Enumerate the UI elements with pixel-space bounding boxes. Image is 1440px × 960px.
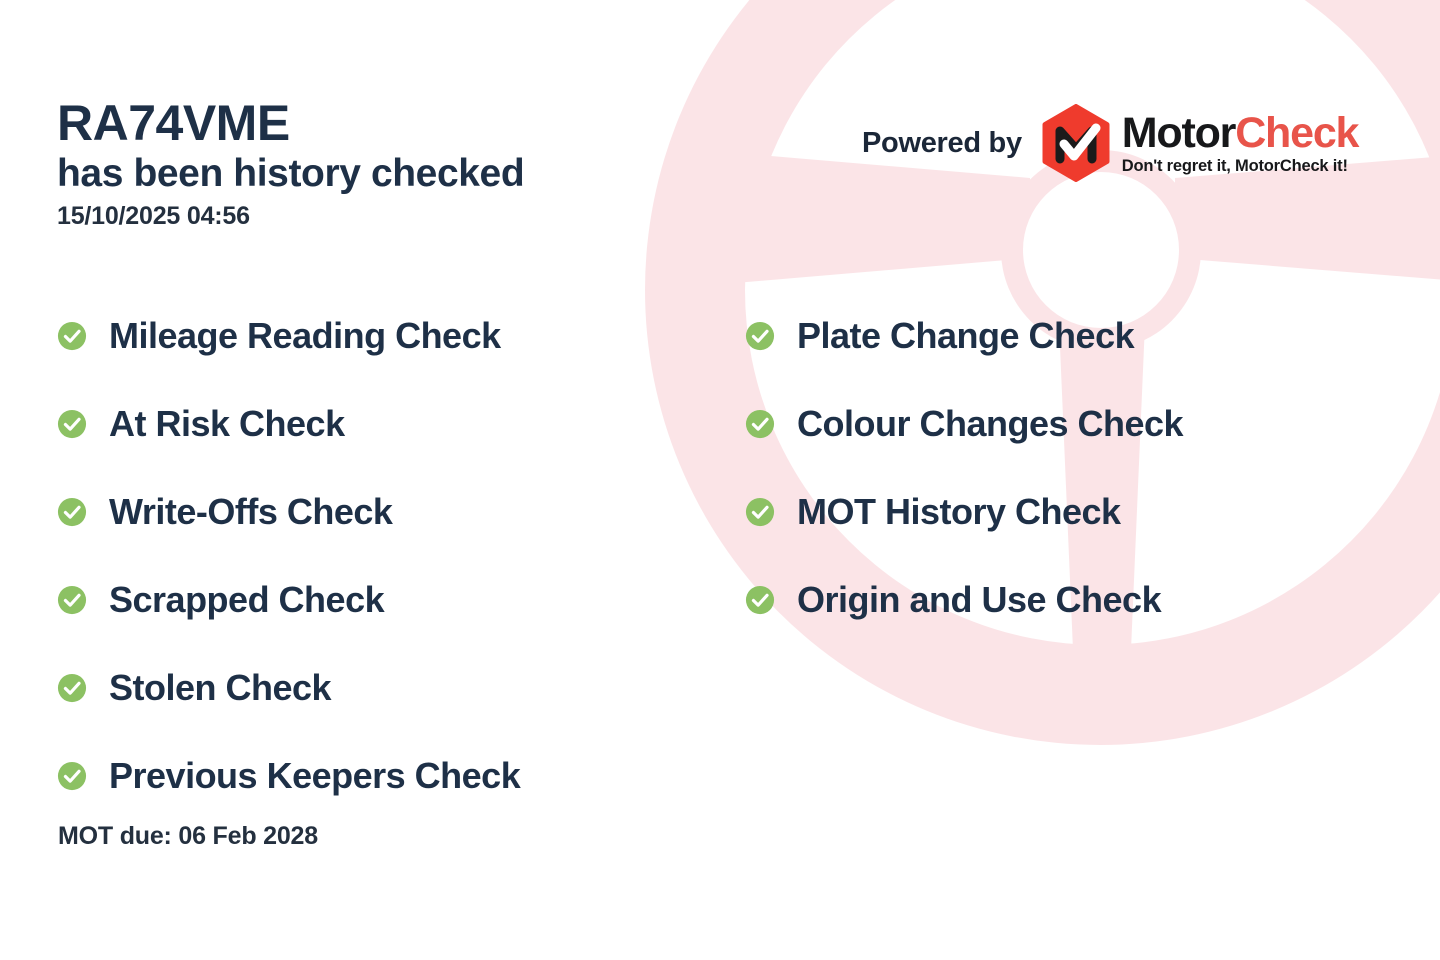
check-timestamp: 15/10/2025 04:56 — [57, 202, 697, 231]
list-item: Previous Keepers Check — [57, 732, 677, 820]
check-circle-icon — [745, 497, 775, 527]
registration-plate: RA74VME — [57, 96, 697, 150]
powered-by-label: Powered by — [862, 127, 1022, 160]
check-circle-icon — [745, 585, 775, 615]
list-item: Stolen Check — [57, 644, 677, 732]
mot-due-date: MOT due: 06 Feb 2028 — [58, 822, 318, 851]
check-label: Scrapped Check — [109, 582, 384, 618]
motorcheck-hexagon-logo-icon — [1040, 104, 1112, 182]
checks-left-column: Mileage Reading Check At Risk Check Writ… — [57, 292, 677, 820]
list-item: MOT History Check — [745, 468, 1405, 556]
check-circle-icon — [57, 673, 87, 703]
brand-name-check: Check — [1235, 109, 1358, 157]
check-label: Mileage Reading Check — [109, 318, 501, 354]
powered-by-block: Powered by MotorCheck Don't regret it, M… — [862, 104, 1358, 182]
list-item: At Risk Check — [57, 380, 677, 468]
check-circle-icon — [57, 761, 87, 791]
vehicle-history-check-summary: RA74VME has been history checked 15/10/2… — [0, 0, 1440, 960]
check-label: Plate Change Check — [797, 318, 1134, 354]
list-item: Plate Change Check — [745, 292, 1405, 380]
list-item: Origin and Use Check — [745, 556, 1405, 644]
brand-name: MotorCheck — [1122, 112, 1358, 155]
check-circle-icon — [57, 321, 87, 351]
list-item: Mileage Reading Check — [57, 292, 677, 380]
brand-tagline: Don't regret it, MotorCheck it! — [1122, 158, 1358, 175]
checks-right-column: Plate Change Check Colour Changes Check … — [745, 292, 1405, 644]
check-label: Colour Changes Check — [797, 406, 1183, 442]
check-label: Write-Offs Check — [109, 494, 392, 530]
check-circle-icon — [57, 497, 87, 527]
list-item: Write-Offs Check — [57, 468, 677, 556]
check-label: At Risk Check — [109, 406, 345, 442]
brand-name-motor: Motor — [1122, 109, 1235, 157]
list-item: Colour Changes Check — [745, 380, 1405, 468]
check-circle-icon — [745, 409, 775, 439]
motorcheck-logo[interactable]: MotorCheck Don't regret it, MotorCheck i… — [1040, 104, 1358, 182]
list-item: Scrapped Check — [57, 556, 677, 644]
check-label: Origin and Use Check — [797, 582, 1161, 618]
check-circle-icon — [57, 585, 87, 615]
page-title: has been history checked — [57, 150, 697, 198]
check-label: Stolen Check — [109, 670, 331, 706]
check-circle-icon — [57, 409, 87, 439]
check-circle-icon — [745, 321, 775, 351]
brand-wordmark: MotorCheck Don't regret it, MotorCheck i… — [1122, 112, 1358, 175]
check-label: Previous Keepers Check — [109, 758, 520, 794]
check-label: MOT History Check — [797, 494, 1121, 530]
header: RA74VME has been history checked 15/10/2… — [57, 96, 697, 231]
